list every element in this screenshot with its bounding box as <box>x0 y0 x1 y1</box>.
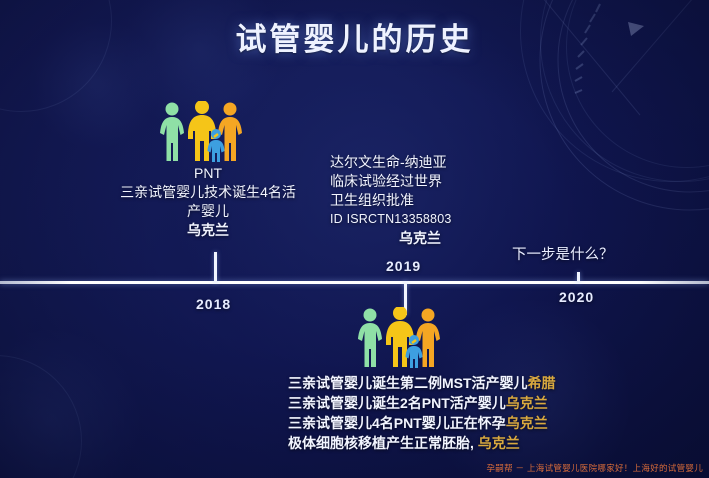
list-item-text: 三亲试管婴儿诞生2名PNT活产婴儿 <box>288 395 506 411</box>
timeline-axis <box>0 281 709 284</box>
family-three-parent-icon <box>157 101 245 168</box>
list-item-country: 乌克兰 <box>506 415 548 431</box>
family-three-parent-icon <box>355 307 443 374</box>
event-2019-trial-id: ID ISRCTN13358803 <box>330 210 510 229</box>
event-2019-country: 乌克兰 <box>330 229 510 248</box>
list-item: 三亲试管婴儿4名PNT婴儿正在怀孕乌克兰 <box>288 413 633 433</box>
timeline-year-2020: 2020 <box>559 289 594 305</box>
list-item: 极体细胞核移植产生正常胚胎, 乌克兰 <box>288 433 633 453</box>
list-item-text: 极体细胞核移植产生正常胚胎, <box>288 435 474 451</box>
list-item: 三亲试管婴儿诞生第二例MST活产婴儿希腊 <box>288 373 633 393</box>
list-item-country: 乌克兰 <box>478 435 520 451</box>
event-2018-text: PNT 三亲试管婴儿技术诞生4名活 产婴儿 乌克兰 <box>88 164 328 240</box>
slide-canvas: 试管婴儿的历史 PNT 三亲 <box>0 0 709 478</box>
background-ring <box>0 355 82 478</box>
list-item-country: 希腊 <box>528 375 556 391</box>
timeline-year-2019: 2019 <box>386 258 421 274</box>
event-2019-line-2: 临床试验经过世界 <box>330 172 510 191</box>
timeline-tick-2018 <box>214 252 217 283</box>
timeline-year-2018: 2018 <box>196 296 231 312</box>
event-2018-line-3: 产婴儿 <box>88 202 328 221</box>
timeline-tick-2020 <box>577 272 580 283</box>
event-2018-country: 乌克兰 <box>88 221 328 240</box>
event-2018-line-1: PNT <box>88 164 328 183</box>
event-2019-line-3: 卫生组织批准 <box>330 191 510 210</box>
list-item-text: 三亲试管婴儿诞生第二例MST活产婴儿 <box>288 375 528 391</box>
event-2019-text: 达尔文生命-纳迪亚 临床试验经过世界 卫生组织批准 ID ISRCTN13358… <box>330 153 510 248</box>
page-title: 试管婴儿的历史 <box>0 14 709 59</box>
list-item-country: 乌克兰 <box>506 395 548 411</box>
event-2018-line-2: 三亲试管婴儿技术诞生4名活 <box>88 183 328 202</box>
event-2019-line-1: 达尔文生命-纳迪亚 <box>330 153 510 172</box>
list-item: 三亲试管婴儿诞生2名PNT活产婴儿乌克兰 <box>288 393 633 413</box>
watermark: 孕嗣帮 － 上海试管婴儿医院哪家好！上海好的试管婴儿 <box>486 462 703 474</box>
background-glow-circle <box>0 330 140 478</box>
next-step-question: 下一步是什么？ <box>512 243 614 264</box>
event-2020-list: 三亲试管婴儿诞生第二例MST活产婴儿希腊 三亲试管婴儿诞生2名PNT活产婴儿乌克… <box>288 373 633 453</box>
list-item-text: 三亲试管婴儿4名PNT婴儿正在怀孕 <box>288 415 506 431</box>
